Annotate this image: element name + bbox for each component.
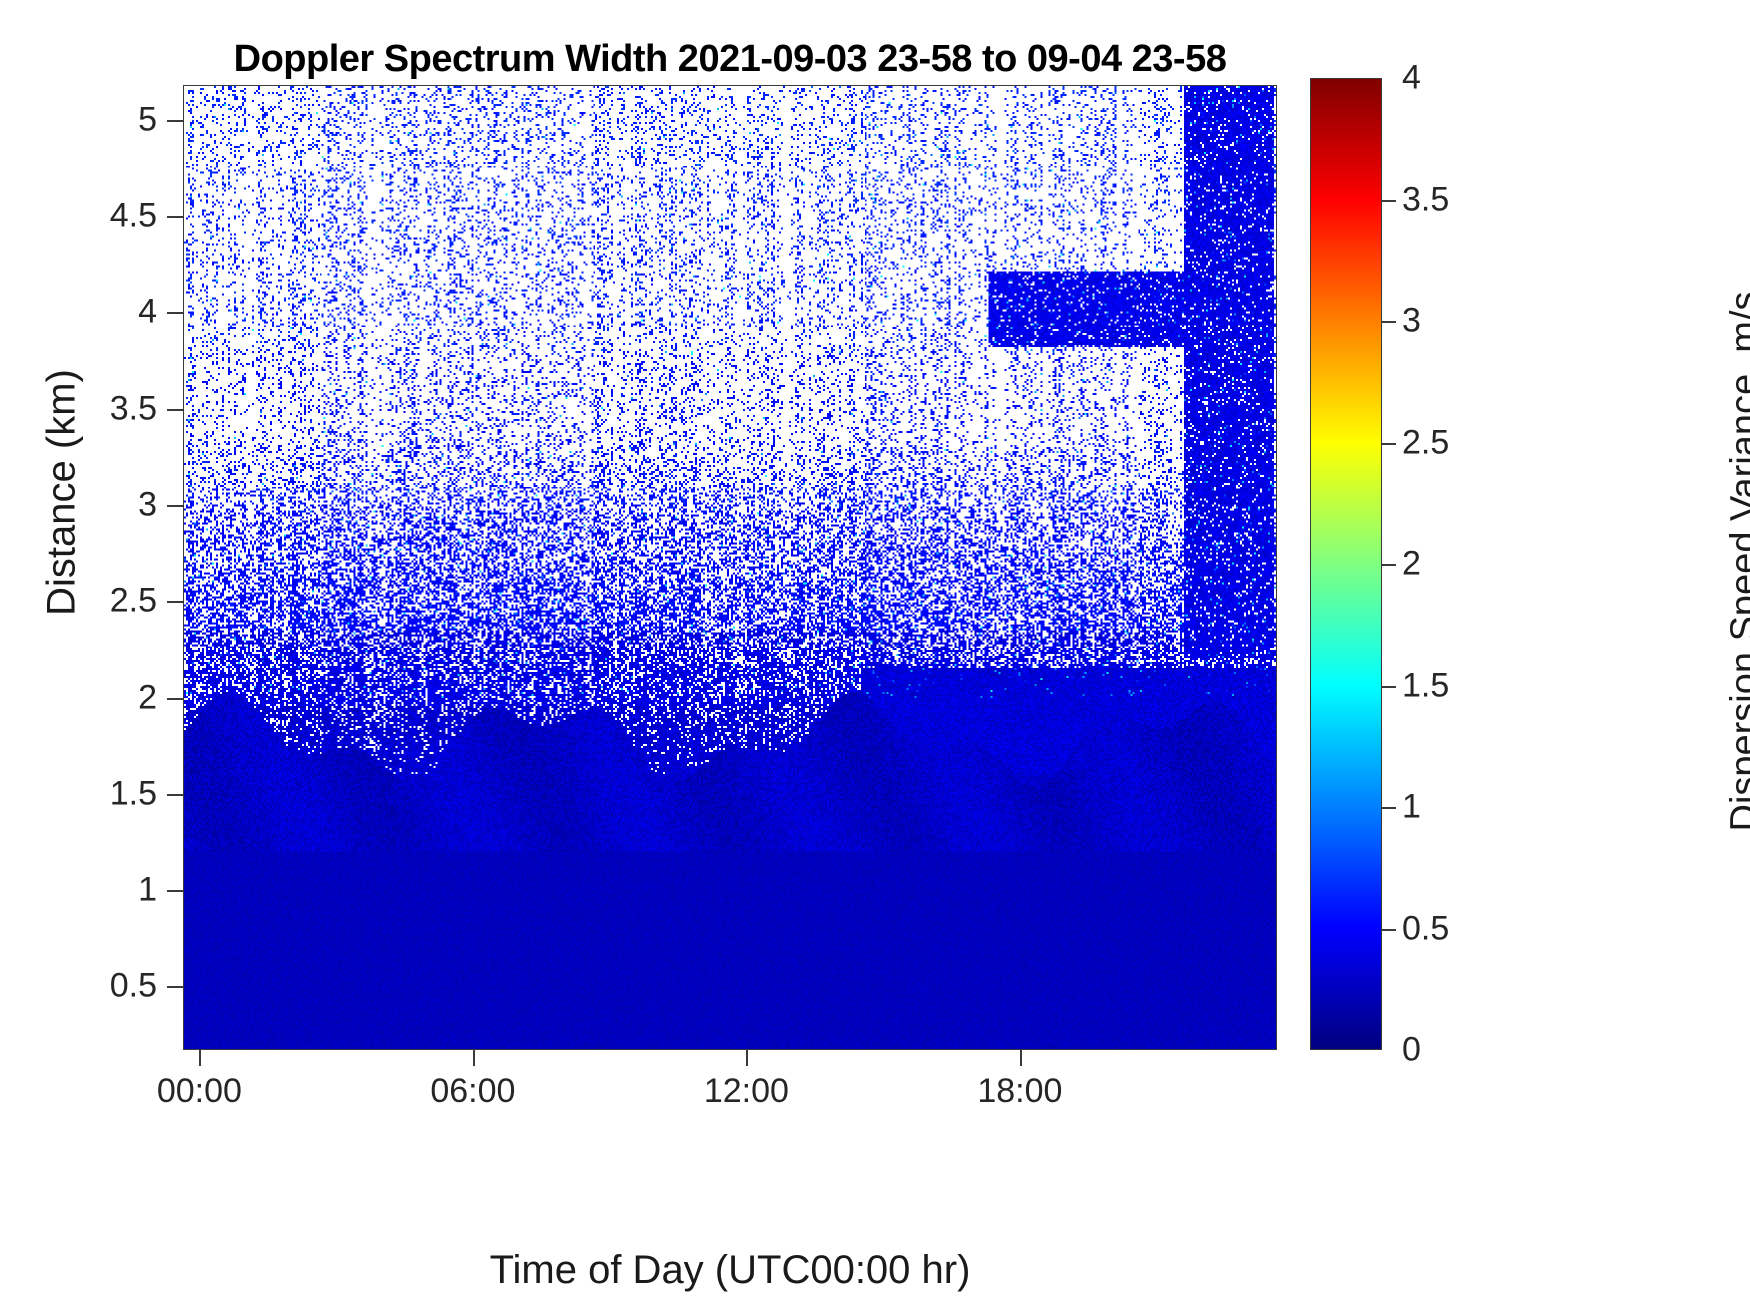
colorbar-tick-mark	[1382, 200, 1396, 202]
colorbar-tick-label: 2	[1402, 545, 1421, 584]
heatmap-axes	[183, 85, 1277, 1050]
x-tick-mark	[199, 1050, 201, 1066]
y-tick-label: 4.5	[110, 196, 157, 235]
x-tick-mark	[1020, 1050, 1022, 1066]
y-tick-mark	[167, 986, 183, 988]
x-axis-title: Time of Day (UTC00:00 hr)	[183, 1248, 1277, 1293]
x-tick-mark	[473, 1050, 475, 1066]
colorbar-tick-label: 2.5	[1402, 423, 1449, 462]
page-title: Doppler Spectrum Width 2021-09-03 23-58 …	[0, 38, 1460, 81]
y-tick-mark	[167, 794, 183, 796]
y-tick-label: 1	[138, 871, 157, 910]
y-tick-mark	[167, 505, 183, 507]
colorbar-title: Dispersion Speed Variance, m/s	[1724, 162, 1750, 962]
x-tick-label: 06:00	[430, 1072, 515, 1111]
y-tick-mark	[167, 698, 183, 700]
colorbar-tick-label: 1	[1402, 788, 1421, 827]
y-tick-mark	[167, 120, 183, 122]
y-tick-mark	[167, 601, 183, 603]
heatmap-image	[184, 86, 1276, 1049]
colorbar-tick-label: 3	[1402, 302, 1421, 341]
y-tick-label: 2.5	[110, 582, 157, 621]
y-tick-label: 0.5	[110, 967, 157, 1006]
colorbar-tick-mark	[1382, 807, 1396, 809]
x-tick-label: 18:00	[977, 1072, 1062, 1111]
y-tick-mark	[167, 890, 183, 892]
y-tick-label: 4	[138, 293, 157, 332]
x-tick-label: 00:00	[157, 1072, 242, 1111]
figure-canvas: Doppler Spectrum Width 2021-09-03 23-58 …	[0, 0, 1750, 1313]
colorbar-tick-label: 0	[1402, 1031, 1421, 1070]
colorbar-gradient	[1311, 79, 1381, 1049]
y-tick-mark	[167, 312, 183, 314]
colorbar-tick-mark	[1382, 929, 1396, 931]
y-tick-label: 3	[138, 485, 157, 524]
colorbar-tick-mark	[1382, 564, 1396, 566]
colorbar	[1310, 78, 1382, 1050]
y-tick-label: 5	[138, 100, 157, 139]
colorbar-tick-label: 0.5	[1402, 909, 1449, 948]
colorbar-tick-label: 3.5	[1402, 180, 1449, 219]
colorbar-tick-label: 4	[1402, 59, 1421, 98]
y-tick-mark	[167, 216, 183, 218]
colorbar-tick-mark	[1382, 321, 1396, 323]
y-tick-label: 1.5	[110, 774, 157, 813]
colorbar-tick-label: 1.5	[1402, 666, 1449, 705]
y-tick-label: 2	[138, 678, 157, 717]
y-tick-label: 3.5	[110, 389, 157, 428]
colorbar-tick-mark	[1382, 686, 1396, 688]
x-tick-mark	[746, 1050, 748, 1066]
heatmap-pixels	[184, 86, 1276, 1049]
x-tick-label: 12:00	[704, 1072, 789, 1111]
colorbar-tick-mark	[1382, 443, 1396, 445]
y-axis-title: Distance (km)	[40, 283, 85, 703]
y-tick-mark	[167, 409, 183, 411]
